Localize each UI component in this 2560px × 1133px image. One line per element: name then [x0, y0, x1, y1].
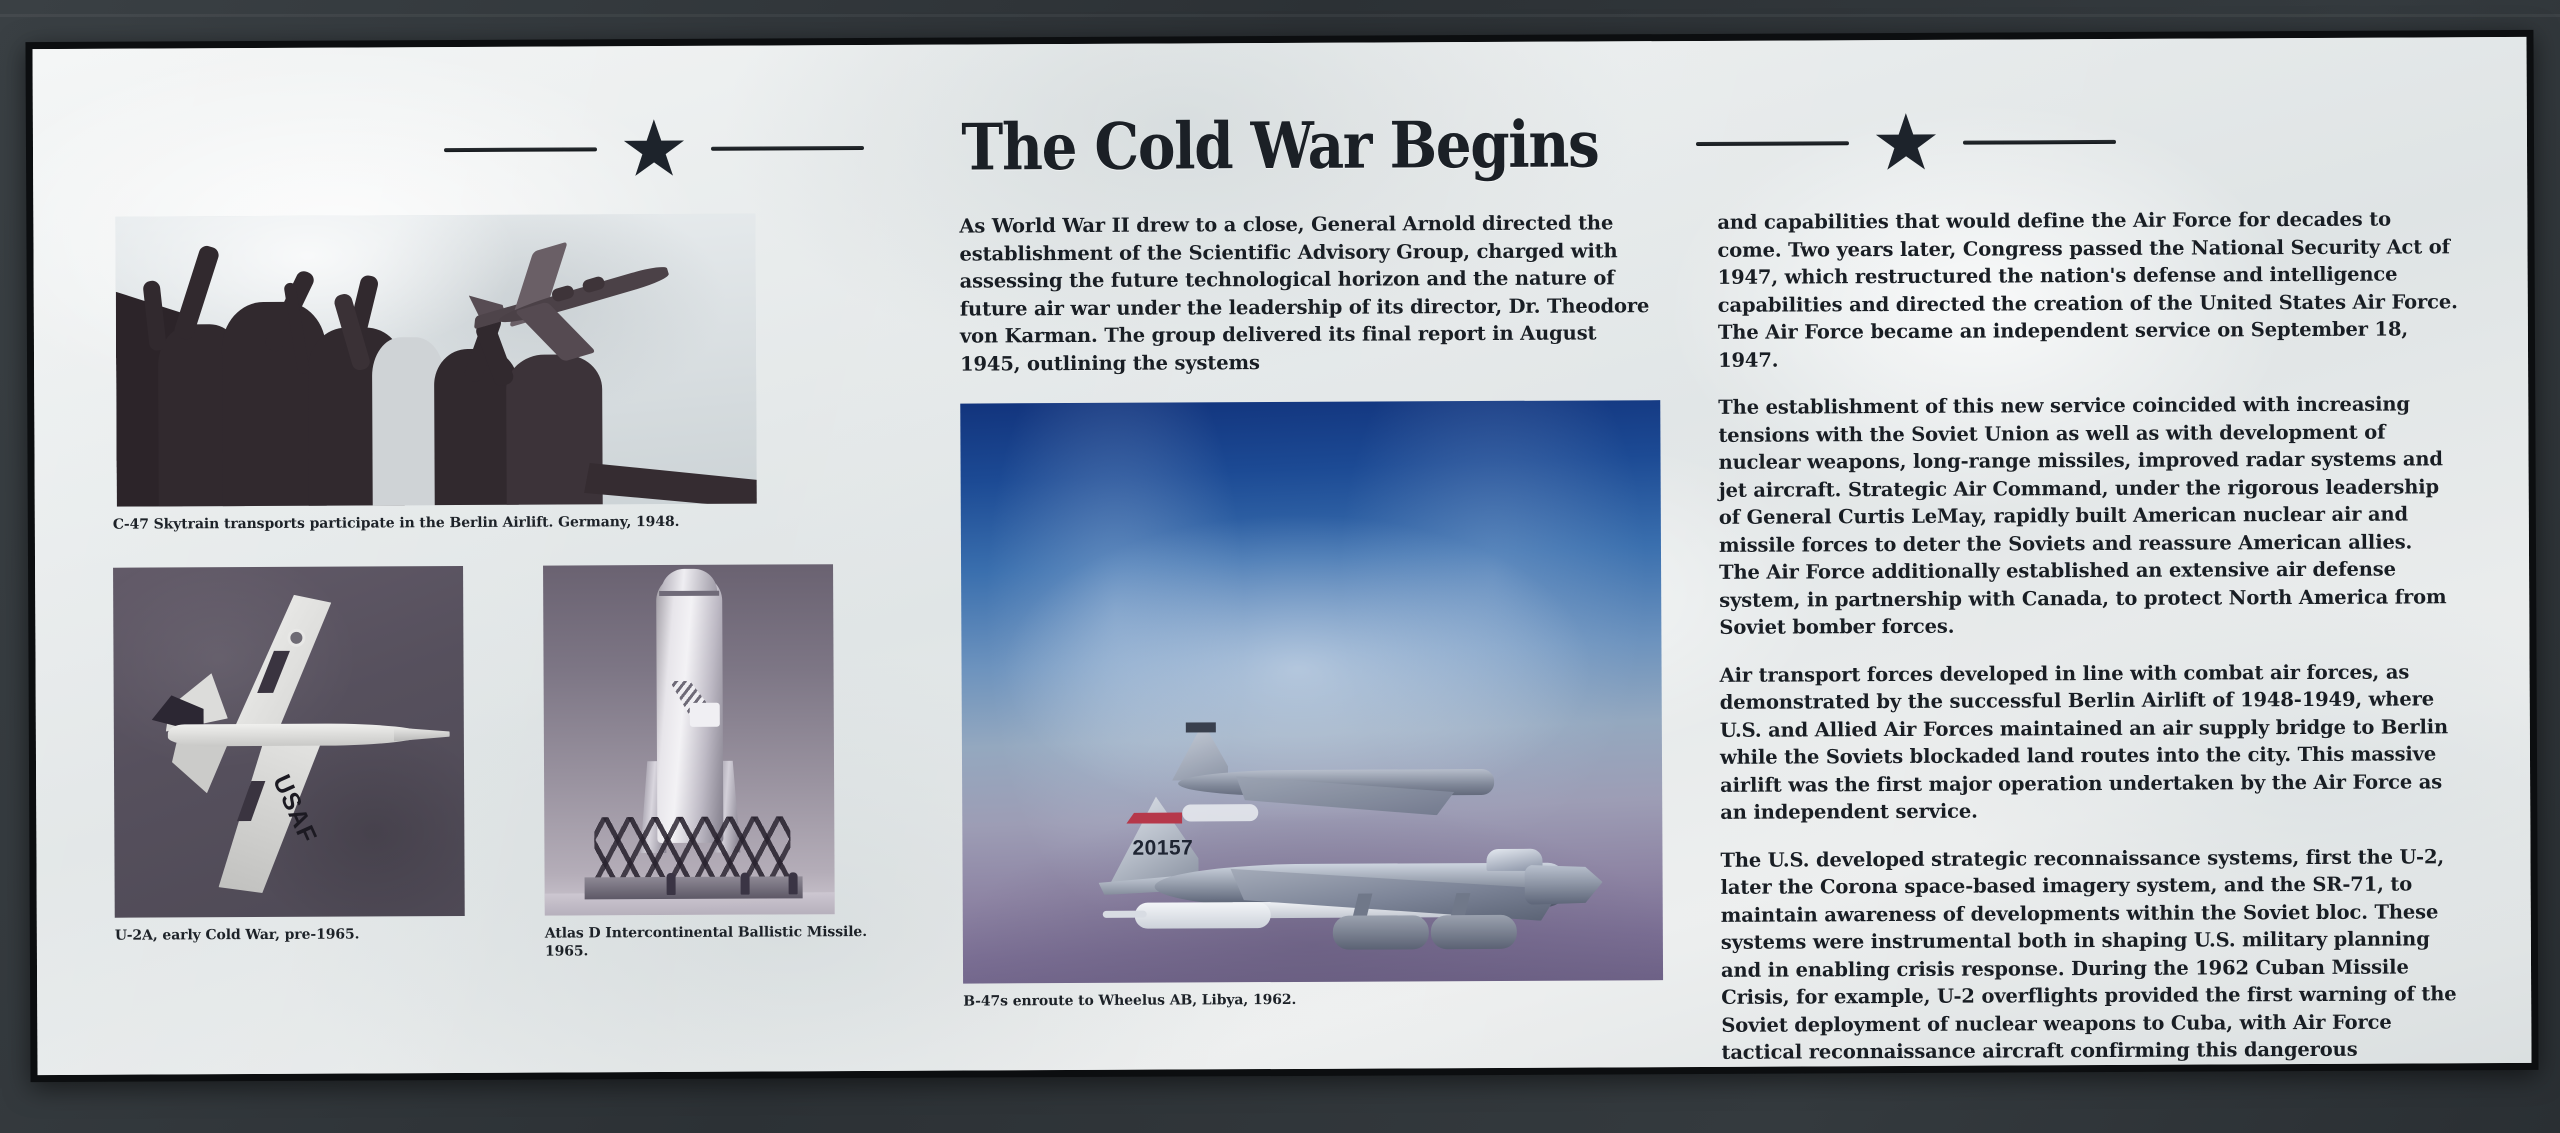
museum-wall: The Cold War Begins: [0, 0, 2560, 1133]
tail-number: 20157: [1132, 836, 1193, 860]
near-wing: [515, 302, 597, 362]
panel-header: The Cold War Begins: [33, 85, 2528, 207]
atlas-d-missile-photo: [543, 564, 835, 915]
fin-cap: [1186, 722, 1216, 732]
ground-crew-figure: [741, 873, 750, 895]
paragraph: The establishment of this new service co…: [1718, 390, 2459, 641]
left-photo-column: C-47 Skytrain transports participate in …: [111, 213, 905, 1039]
atlas-d-missile-icon: [543, 564, 835, 915]
right-text-column: and capabilities that would define the A…: [1717, 205, 2461, 1031]
tailplane-lower: [172, 739, 230, 793]
ground-crew-figure: [667, 873, 676, 895]
paragraph: The U.S. developed strategic reconnaissa…: [1720, 843, 2461, 1075]
intro-paragraph-block: As World War II drew to a close, General…: [959, 209, 1660, 377]
atlas-d-caption: Atlas D Intercontinental Ballistic Missi…: [545, 923, 905, 961]
fuselage: [168, 723, 424, 746]
nose: [1525, 864, 1603, 904]
star-icon: [623, 119, 685, 179]
fin-stripe: [1126, 812, 1182, 823]
content-columns: C-47 Skytrain transports participate in …: [111, 205, 2461, 1038]
tank-probe: [1103, 911, 1147, 918]
b-47-photo: 20157: [960, 400, 1663, 983]
paragraph: Air transport forces developed in line w…: [1720, 658, 2461, 827]
service-arm: [690, 703, 720, 727]
launch-pad: [585, 876, 803, 899]
u-2a-aircraft-icon: USAF: [137, 584, 451, 904]
external-tank: [1135, 902, 1271, 929]
ground-crew-figure: [789, 872, 798, 894]
u-2a-photo: USAF: [113, 566, 465, 918]
middle-column: As World War II drew to a close, General…: [959, 209, 1663, 1034]
u-2a-caption: U-2A, early Cold War, pre-1965.: [115, 925, 465, 945]
engine-pod: [1333, 915, 1429, 949]
star-icon: [1875, 113, 1937, 173]
atlas-d-photo-block: Atlas D Intercontinental Ballistic Missi…: [543, 564, 905, 961]
ornament-left: [444, 118, 864, 180]
lower-photo-row: USAF U-2A, early Cold War, pre-1965.: [113, 564, 905, 963]
nose: [394, 727, 450, 741]
nose-band: [659, 591, 719, 596]
rule-right-inner: [1696, 141, 1849, 146]
u-2a-photo-block: USAF U-2A, early Cold War, pre-1965.: [113, 566, 465, 963]
panel-surface: The Cold War Begins: [33, 37, 2532, 1075]
exhibit-panel: The Cold War Begins: [25, 30, 2538, 1082]
berlin-airlift-caption: C-47 Skytrain transports participate in …: [113, 512, 903, 534]
paragraph: As World War II drew to a close, General…: [959, 209, 1660, 377]
engine-pod: [1431, 915, 1517, 949]
page-title: The Cold War Begins: [914, 107, 1646, 186]
b-47-front-aircraft-icon: 20157: [1080, 788, 1601, 981]
wall-seam: [0, 14, 2560, 17]
ornament-right: [1696, 112, 2116, 174]
body-paragraph-block: and capabilities that would define the A…: [1717, 205, 2461, 1075]
roundel-icon: [287, 629, 305, 647]
rule-left-outer: [444, 147, 597, 152]
paragraph: and capabilities that would define the A…: [1717, 205, 2458, 374]
b-47-caption: B-47s enroute to Wheelus AB, Libya, 1962…: [963, 989, 1663, 1010]
berlin-airlift-photo: [115, 214, 756, 507]
rule-right-outer: [1963, 140, 2116, 145]
rule-left-inner: [711, 146, 864, 151]
